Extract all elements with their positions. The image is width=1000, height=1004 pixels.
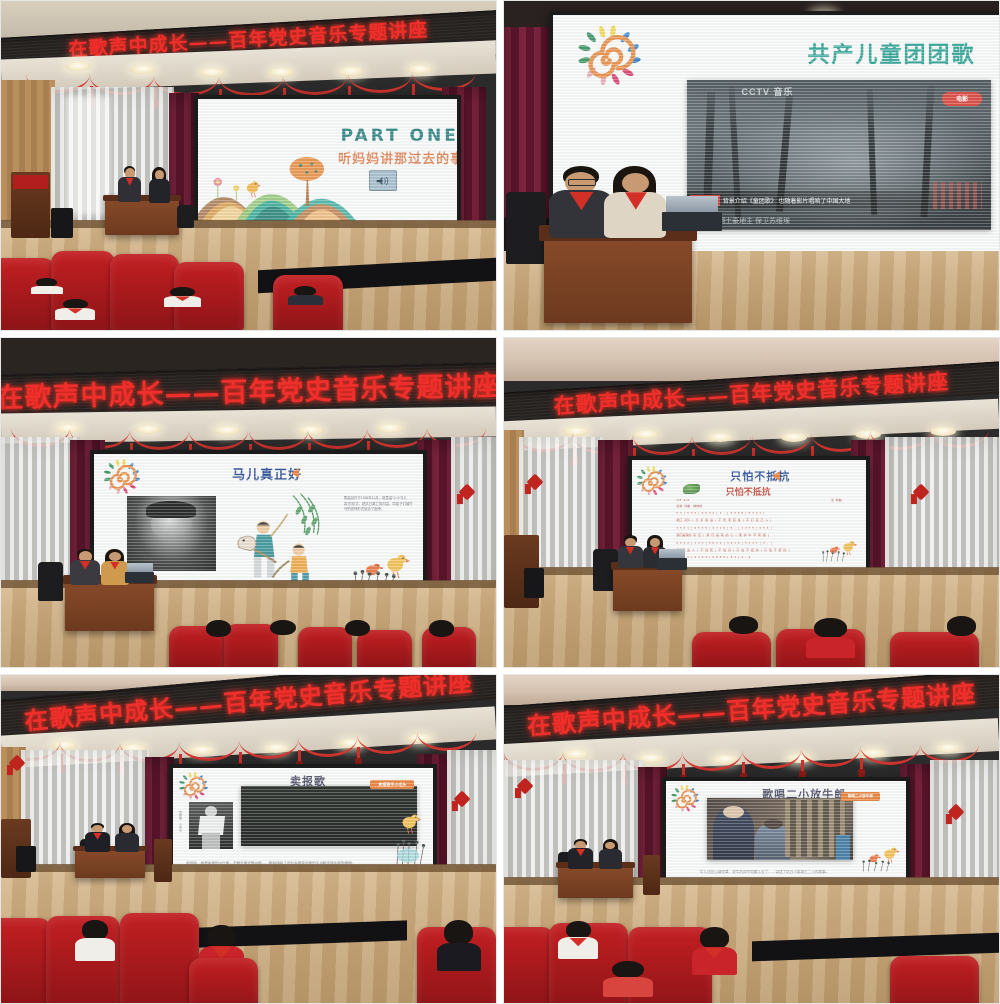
video-subtitle: 打倒土豪地主 保卫苏维埃 — [711, 216, 790, 226]
student-in-audience — [692, 927, 737, 974]
led-screen-6: 歌唱二小放牛郎 歌唱二小放牛郎 牛儿还在山坡吃草，放牛的却不知哪儿去了……讲述了… — [662, 777, 910, 885]
sheer-curtain-right — [885, 437, 999, 588]
student-in-audience — [722, 616, 767, 648]
composer-portrait — [127, 496, 216, 572]
audience-seating-row — [504, 891, 999, 1003]
slide-title-anthem: 共产儿童团团歌 — [808, 37, 976, 69]
seat[interactable] — [120, 913, 199, 1003]
slide-corner-tag: 歌唱二小放牛郎 — [841, 792, 879, 801]
photo-panel-2[interactable]: 共产儿童团团歌 CCTV 音乐 电影 背 — [503, 0, 1000, 331]
photo-panel-1[interactable]: 在歌声中成长——百年党史音乐专题讲座 — [0, 0, 497, 331]
film-woman-face — [723, 806, 743, 818]
seat[interactable] — [1, 918, 51, 1003]
film-blue-panel — [836, 835, 851, 860]
photo-caption: 卖报歌 · 小毛头 — [178, 811, 182, 832]
side-lectern — [643, 855, 660, 894]
laptop[interactable] — [662, 212, 721, 232]
slide-subtitle-part-one: 听妈妈讲那过去的事情 — [338, 148, 461, 167]
play-audio-icon[interactable] — [772, 471, 780, 481]
eyeglasses-icon — [568, 179, 596, 185]
led-screen-1: PART ONE 听妈妈讲那过去的事情 — [194, 95, 461, 227]
student-in-audience — [940, 616, 985, 652]
seat[interactable] — [189, 958, 258, 1003]
embedded-video-player[interactable]: CCTV 音乐 电影 背景介绍 背景介绍《童团歌》 也随着影片唱响了中国大地 打… — [687, 80, 991, 230]
audience-seating-row — [1, 885, 496, 1003]
portrait-hair — [146, 501, 196, 518]
vertical-caption-block — [933, 182, 982, 209]
spiral-sun-logo — [177, 772, 211, 803]
score-heading: 只怕不抵抗 — [726, 485, 771, 498]
slide-title-part-one: PART ONE — [341, 126, 459, 146]
seat[interactable] — [1, 258, 55, 330]
foliage-canopy — [687, 80, 991, 131]
slide-corner-tag: 卖报歌手小毛头 — [370, 780, 414, 789]
spiral-sun-logo — [570, 25, 651, 93]
seat[interactable] — [504, 927, 554, 1003]
floor-speaker — [51, 208, 73, 238]
laptop[interactable] — [657, 558, 687, 570]
student-in-audience — [338, 620, 378, 658]
photo-panel-3[interactable]: 在歌声中成长——百年党史音乐专题讲座 — [0, 337, 497, 668]
auditorium-scene-5: 在歌声中成长——百年党史音乐专题讲座 — [1, 675, 496, 1003]
song-description: 歌曲创作于1936年11月，用童谣“小小马儿真”的形式，把抗日救亡的内容，同孩子… — [344, 496, 413, 552]
auditorium-scene-4: 在歌声中成长——百年党史音乐专题讲座 — [504, 338, 999, 667]
student-in-audience — [603, 961, 653, 997]
presenter-male — [117, 166, 142, 202]
presenter-male — [85, 823, 110, 853]
spiral-sun-logo — [670, 785, 701, 815]
audio-speaker-icon — [369, 170, 397, 191]
student-in-audience — [288, 286, 323, 304]
photo-panel-4[interactable]: 在歌声中成长——百年党史音乐专题讲座 — [503, 337, 1000, 668]
seat[interactable] — [890, 956, 979, 1003]
stage-edge — [504, 567, 999, 575]
film-boy-head — [764, 819, 783, 829]
student-in-audience — [422, 620, 462, 659]
slide-part-one: PART ONE 听妈妈讲那过去的事情 — [198, 99, 457, 223]
presenter-female — [598, 839, 623, 869]
photo-legs — [202, 833, 220, 849]
laptop[interactable] — [125, 572, 155, 584]
presenter-female — [603, 166, 667, 238]
lectern-red-sign — [13, 175, 48, 188]
audience-seating-row — [1, 238, 496, 330]
auditorium-scene-2: 共产儿童团团歌 CCTV 音乐 电影 背 — [504, 1, 999, 330]
bird-and-flower-decoration — [856, 838, 904, 878]
photo-collage: 在歌声中成长——百年党史音乐专题讲座 — [0, 0, 1000, 1000]
student-in-audience — [75, 920, 115, 960]
film-still[interactable] — [707, 798, 853, 860]
photo-panel-5[interactable]: 在歌声中成长——百年党史音乐专题讲座 — [0, 674, 497, 1004]
student-in-audience — [437, 920, 482, 970]
ticker-text: 背景介绍《童团歌》 也随着影片唱响了中国大地 — [723, 196, 851, 205]
play-audio-icon[interactable] — [291, 468, 299, 478]
presenter-male — [70, 549, 100, 585]
presenter-table-2 — [544, 225, 693, 324]
slide-title-resist: 只怕不抵抗 — [730, 468, 790, 484]
presenter-male — [568, 839, 593, 869]
presenter-male — [618, 535, 643, 568]
slide-sing-er-xiao: 歌唱二小放牛郎 歌唱二小放牛郎 牛儿还在山坡吃草，放牛的却不知哪儿去了……讲述了… — [666, 781, 906, 881]
video-corner-badge: 电影 — [942, 92, 982, 106]
presenter-female — [147, 167, 172, 203]
score-decor-leaf — [683, 484, 699, 494]
photo-panel-6[interactable]: 在歌声中成长——百年党史音乐专题讲座 — [503, 674, 1000, 1004]
slide-caption: 牛儿还在山坡吃草，放牛的却不知哪儿去了……讲述了抗日小英雄王二小的故事。 — [700, 870, 877, 875]
spiral-sun-logo — [636, 466, 669, 499]
student-in-audience — [558, 921, 598, 959]
student-in-audience — [199, 620, 239, 657]
slide-sell-newspaper-song: 卖报歌 卖报歌 · 小毛头 卖报歌手小毛头 啦啦啦，我是卖报的小行家，不等天明去… — [173, 768, 432, 872]
presenter-female — [115, 823, 140, 853]
chair — [38, 562, 63, 601]
chair — [177, 205, 194, 228]
auditorium-scene-1: 在歌声中成长——百年党史音乐专题讲座 — [1, 1, 496, 330]
stage-curtain-left — [504, 1, 554, 218]
auditorium-scene-6: 在歌声中成长——百年党史音乐专题讲座 — [504, 675, 999, 1003]
rainbow-hills-illustration — [198, 151, 359, 223]
bamboo-horse-illustration — [226, 490, 338, 577]
audience-seating-row — [1, 608, 496, 667]
floor-speaker — [16, 846, 36, 872]
student-in-audience — [31, 278, 63, 294]
floor-speaker — [524, 568, 544, 598]
sheer-curtain-right — [447, 750, 497, 881]
sheer-curtain-right — [451, 437, 496, 595]
student-in-audience — [263, 620, 303, 654]
student-in-audience — [164, 287, 201, 306]
led-screen-5: 卖报歌 卖报歌 · 小毛头 卖报歌手小毛头 啦啦啦，我是卖报的小行家，不等天明去… — [169, 764, 436, 876]
bird-and-flower-decoration — [386, 809, 430, 867]
stage-edge — [1, 220, 496, 228]
audience-seating-row — [504, 595, 999, 667]
spiral-sun-logo — [101, 459, 144, 498]
side-lectern — [154, 839, 171, 882]
student-in-audience — [55, 299, 95, 319]
cctv-watermark: CCTV 音乐 — [742, 85, 794, 98]
student-in-audience — [806, 618, 856, 657]
auditorium-scene-3: 在歌声中成长——百年党史音乐专题讲座 — [1, 338, 496, 667]
bird-and-flower-decoration — [812, 531, 864, 569]
newspaper-girl-photo — [189, 802, 233, 850]
